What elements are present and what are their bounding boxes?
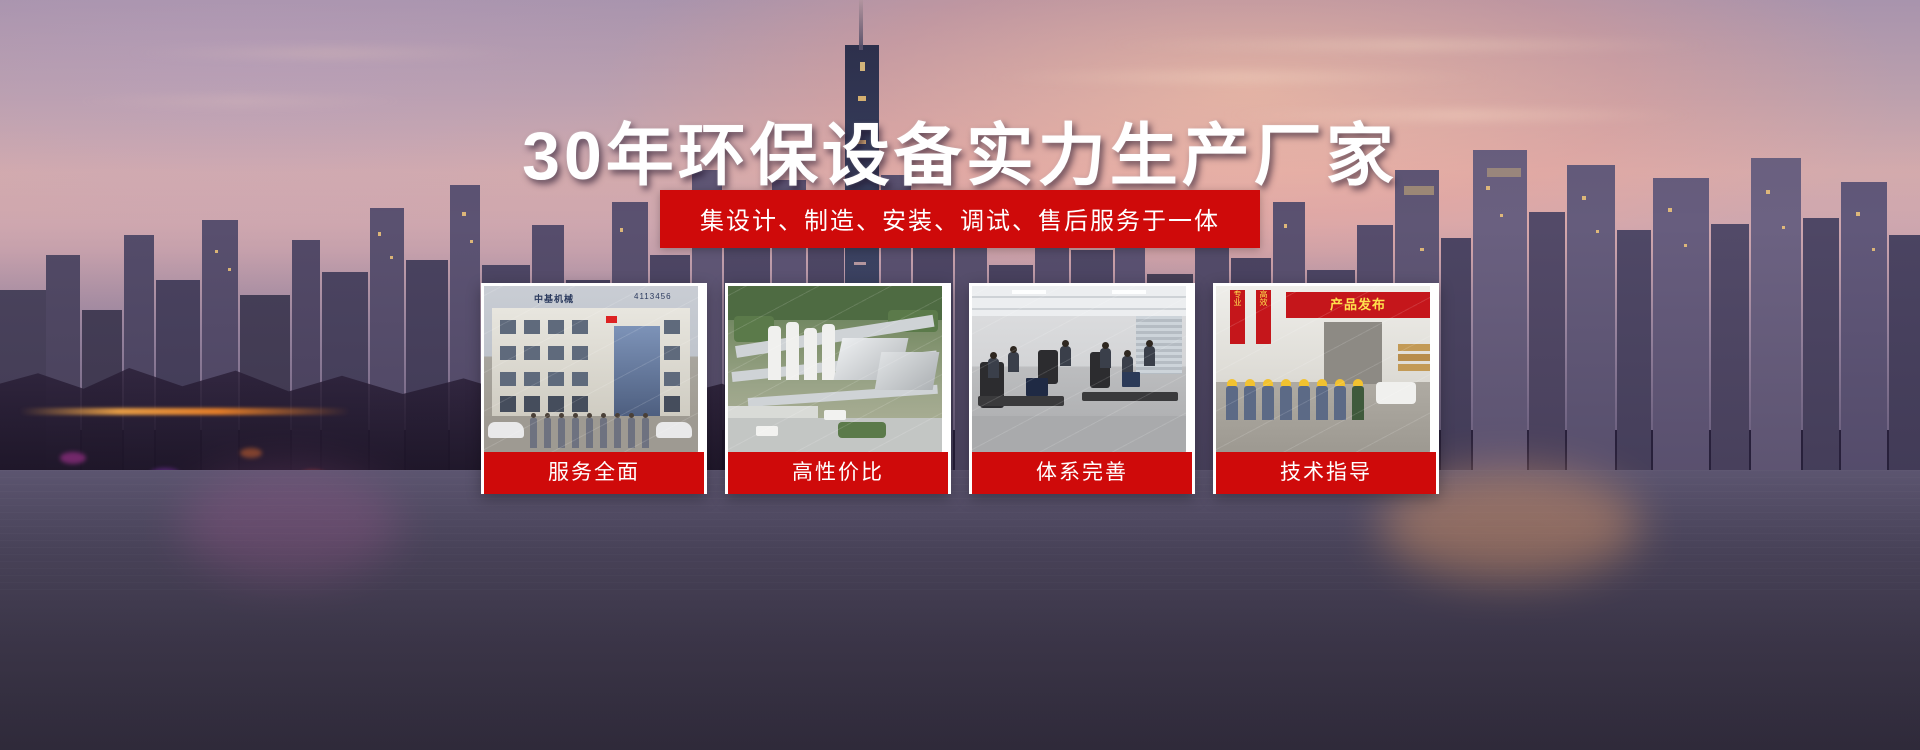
- subtitle-container: 集设计、制造、安装、调试、售后服务于一体: [0, 190, 1920, 248]
- building-sign-text: 中基机械: [534, 292, 574, 305]
- subtitle-badge: 集设计、制造、安装、调试、售后服务于一体: [660, 190, 1260, 248]
- card-label: 技术指导: [1216, 452, 1436, 494]
- feature-card[interactable]: 高性价比: [725, 283, 951, 494]
- card-photo-office-building: 中基机械 4113456: [484, 286, 698, 452]
- building-sign-phone: 4113456: [634, 292, 672, 301]
- card-label: 体系完善: [972, 452, 1192, 494]
- feature-card-list: 中基机械 4113456: [0, 283, 1920, 494]
- card-photo-workshop: 产品发布 专业 高效: [1216, 286, 1430, 452]
- card-photo-aerial-plant: [728, 286, 942, 452]
- page-title: 30年环保设备实力生产厂家: [0, 100, 1920, 199]
- flag-icon: [606, 316, 617, 323]
- card-label: 服务全面: [484, 452, 704, 494]
- feature-card[interactable]: 体系完善: [969, 283, 1195, 494]
- feature-card[interactable]: 中基机械 4113456: [481, 283, 707, 494]
- card-photo-office-interior: [972, 286, 1186, 452]
- hero-banner: 30年环保设备实力生产厂家 集设计、制造、安装、调试、售后服务于一体 中基机械 …: [0, 0, 1920, 750]
- workshop-banner-text: 产品发布: [1286, 292, 1430, 318]
- card-label: 高性价比: [728, 452, 948, 494]
- feature-card[interactable]: 产品发布 专业 高效 技术指导: [1213, 283, 1439, 494]
- vertical-banner-left-text: 专业: [1230, 290, 1245, 306]
- vertical-banner-right-text: 高效: [1256, 290, 1271, 306]
- workshop-banner: 产品发布: [1286, 292, 1430, 318]
